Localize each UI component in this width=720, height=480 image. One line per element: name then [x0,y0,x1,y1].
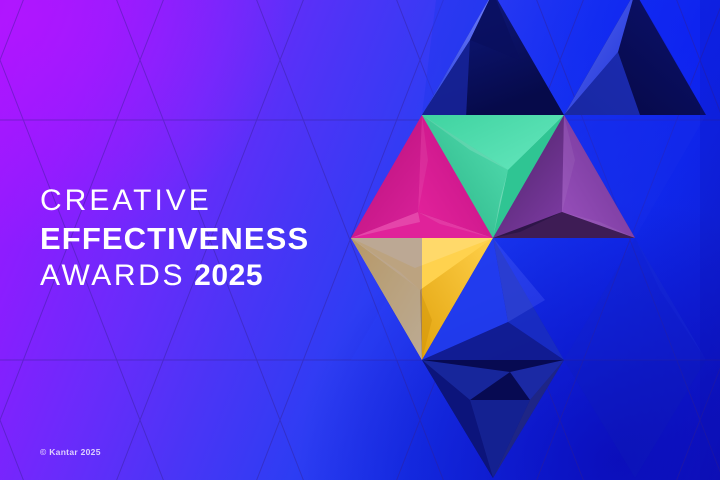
title-word-awards: AWARDS [40,259,185,292]
title-line-effectiveness: EFFECTIVENESS [40,223,420,254]
copyright-notice: © Kantar 2025 [40,447,101,457]
artwork-vignette [700,0,720,480]
poster-canvas: CREATIVE EFFECTIVENESS AWARDS2025 © Kant… [0,0,720,480]
title-line-creative: CREATIVE [40,186,420,216]
page-title: CREATIVE EFFECTIVENESS AWARDS2025 [40,186,420,291]
title-line-awards-year: AWARDS2025 [40,261,420,291]
title-year: 2025 [194,259,263,292]
